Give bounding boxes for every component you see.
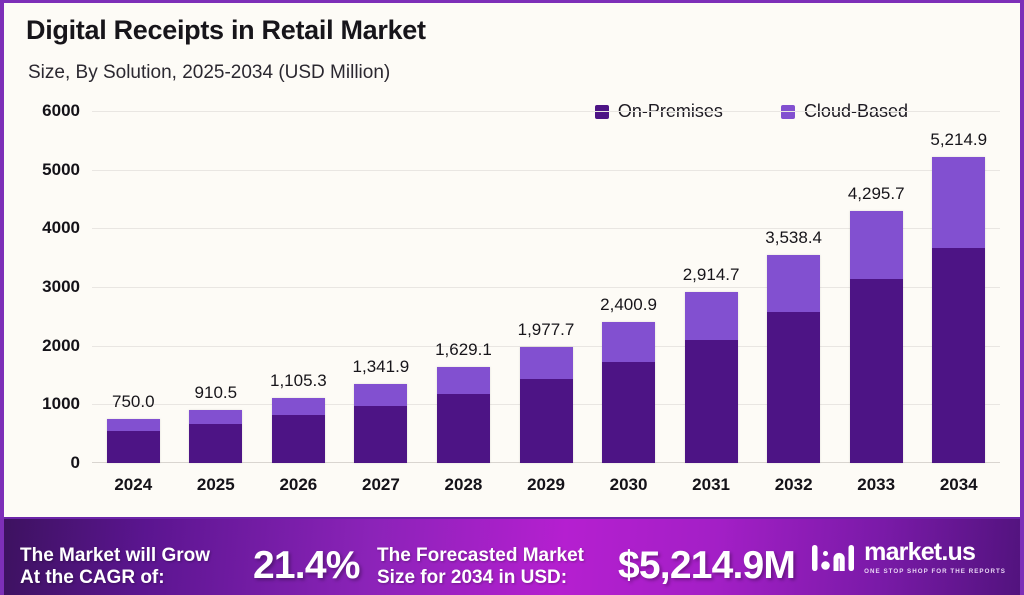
stacked-bar[interactable] bbox=[189, 410, 242, 463]
stacked-bar[interactable] bbox=[354, 384, 407, 463]
x-axis-tick-label: 2028 bbox=[445, 475, 483, 495]
bar-total-label: 1,341.9 bbox=[353, 357, 410, 377]
cagr-caption-line2: At the CAGR of: bbox=[20, 567, 210, 589]
bar-total-label: 2,400.9 bbox=[600, 295, 657, 315]
bar-segment-on-premises[interactable] bbox=[272, 415, 325, 463]
bar-segment-on-premises[interactable] bbox=[354, 406, 407, 463]
footer-banner: The Market will Grow At the CAGR of: 21.… bbox=[4, 517, 1020, 595]
logo-text: market.us ONE STOP SHOP FOR THE REPORTS bbox=[864, 540, 1006, 575]
bar-segment-on-premises[interactable] bbox=[602, 362, 655, 463]
bar-total-label: 1,105.3 bbox=[270, 371, 327, 391]
cagr-value: 21.4% bbox=[253, 544, 360, 588]
market-us-logo[interactable]: market.us ONE STOP SHOP FOR THE REPORTS bbox=[812, 540, 1006, 575]
infographic-chart-card: Digital Receipts in Retail Market Size, … bbox=[0, 0, 1024, 595]
stacked-bar[interactable] bbox=[437, 367, 490, 463]
x-axis-tick-label: 2025 bbox=[197, 475, 235, 495]
x-axis-tick-label: 2026 bbox=[279, 475, 317, 495]
bar-segment-cloud-based[interactable] bbox=[602, 322, 655, 362]
bar-group[interactable]: 2,400.92030 bbox=[587, 111, 670, 463]
cagr-caption: The Market will Grow At the CAGR of: bbox=[20, 545, 210, 589]
bar-total-label: 5,214.9 bbox=[930, 130, 987, 150]
bar-total-label: 1,977.7 bbox=[518, 320, 575, 340]
bar-total-label: 4,295.7 bbox=[848, 184, 905, 204]
stacked-bar[interactable] bbox=[685, 292, 738, 463]
x-axis-tick-label: 2034 bbox=[940, 475, 978, 495]
bar-group[interactable]: 750.02024 bbox=[92, 111, 175, 463]
stacked-bar[interactable] bbox=[520, 347, 573, 463]
bar-group[interactable]: 4,295.72033 bbox=[835, 111, 918, 463]
bar-total-label: 3,538.4 bbox=[765, 228, 822, 248]
forecast-size-caption: The Forecasted Market Size for 2034 in U… bbox=[377, 545, 584, 589]
bar-segment-cloud-based[interactable] bbox=[520, 347, 573, 379]
y-axis-tick-label: 2000 bbox=[42, 336, 80, 356]
bar-chart-logo-icon bbox=[812, 541, 856, 575]
x-axis-tick-label: 2031 bbox=[692, 475, 730, 495]
page-title: Digital Receipts in Retail Market bbox=[26, 15, 426, 46]
stacked-bar[interactable] bbox=[850, 211, 903, 463]
bar-group[interactable]: 1,629.12028 bbox=[422, 111, 505, 463]
bar-segment-cloud-based[interactable] bbox=[850, 211, 903, 279]
bar-group[interactable]: 3,538.42032 bbox=[752, 111, 835, 463]
forecast-size-caption-line1: The Forecasted Market bbox=[377, 545, 584, 567]
stacked-bar[interactable] bbox=[107, 419, 160, 463]
chart-plot-area: 0100020003000400050006000 750.02024910.5… bbox=[92, 111, 1000, 463]
bar-total-label: 750.0 bbox=[112, 392, 155, 412]
bar-segment-cloud-based[interactable] bbox=[685, 292, 738, 340]
y-axis-tick-label: 3000 bbox=[42, 277, 80, 297]
y-axis-tick-label: 4000 bbox=[42, 218, 80, 238]
x-axis-tick-label: 2033 bbox=[857, 475, 895, 495]
stacked-bar[interactable] bbox=[932, 157, 985, 463]
bar-total-label: 910.5 bbox=[195, 383, 238, 403]
x-axis-tick-label: 2024 bbox=[114, 475, 152, 495]
bar-segment-cloud-based[interactable] bbox=[932, 157, 985, 248]
y-axis-tick-label: 5000 bbox=[42, 160, 80, 180]
cagr-caption-line1: The Market will Grow bbox=[20, 545, 210, 567]
bar-segment-cloud-based[interactable] bbox=[767, 255, 820, 312]
forecast-size-caption-line2: Size for 2034 in USD: bbox=[377, 567, 584, 589]
logo-name: market.us bbox=[864, 540, 1006, 565]
stacked-bar[interactable] bbox=[602, 322, 655, 463]
forecast-size-value: $5,214.9M bbox=[618, 544, 795, 588]
bar-segment-on-premises[interactable] bbox=[850, 279, 903, 463]
bar-segment-cloud-based[interactable] bbox=[354, 384, 407, 405]
bar-segment-on-premises[interactable] bbox=[520, 379, 573, 463]
bar-segment-cloud-based[interactable] bbox=[272, 398, 325, 415]
bar-segment-on-premises[interactable] bbox=[767, 312, 820, 463]
bar-segment-cloud-based[interactable] bbox=[107, 419, 160, 431]
bar-segment-on-premises[interactable] bbox=[932, 248, 985, 463]
y-axis-tick-label: 1000 bbox=[42, 394, 80, 414]
bar-group[interactable]: 1,105.32026 bbox=[257, 111, 340, 463]
stacked-bar[interactable] bbox=[272, 398, 325, 463]
stacked-bar[interactable] bbox=[767, 255, 820, 463]
logo-tagline: ONE STOP SHOP FOR THE REPORTS bbox=[864, 569, 1006, 575]
bar-total-label: 2,914.7 bbox=[683, 265, 740, 285]
bar-segment-on-premises[interactable] bbox=[107, 431, 160, 463]
bar-segment-cloud-based[interactable] bbox=[437, 367, 490, 393]
bar-group[interactable]: 1,341.92027 bbox=[340, 111, 423, 463]
x-axis-tick-label: 2029 bbox=[527, 475, 565, 495]
bar-segment-cloud-based[interactable] bbox=[189, 410, 242, 425]
bar-total-label: 1,629.1 bbox=[435, 340, 492, 360]
y-axis-tick-label: 6000 bbox=[42, 101, 80, 121]
bar-group[interactable]: 1,977.72029 bbox=[505, 111, 588, 463]
bar-group[interactable]: 910.52025 bbox=[175, 111, 258, 463]
bar-segment-on-premises[interactable] bbox=[189, 424, 242, 463]
bar-group[interactable]: 5,214.92034 bbox=[917, 111, 1000, 463]
y-axis-tick-label: 0 bbox=[71, 453, 80, 473]
bar-segment-on-premises[interactable] bbox=[437, 394, 490, 463]
bar-group[interactable]: 2,914.72031 bbox=[670, 111, 753, 463]
bar-series-container: 750.02024910.520251,105.320261,341.92027… bbox=[92, 111, 1000, 463]
page-subtitle: Size, By Solution, 2025-2034 (USD Millio… bbox=[28, 62, 390, 84]
x-axis-tick-label: 2030 bbox=[610, 475, 648, 495]
bar-segment-on-premises[interactable] bbox=[685, 340, 738, 463]
x-axis-tick-label: 2032 bbox=[775, 475, 813, 495]
x-axis-tick-label: 2027 bbox=[362, 475, 400, 495]
